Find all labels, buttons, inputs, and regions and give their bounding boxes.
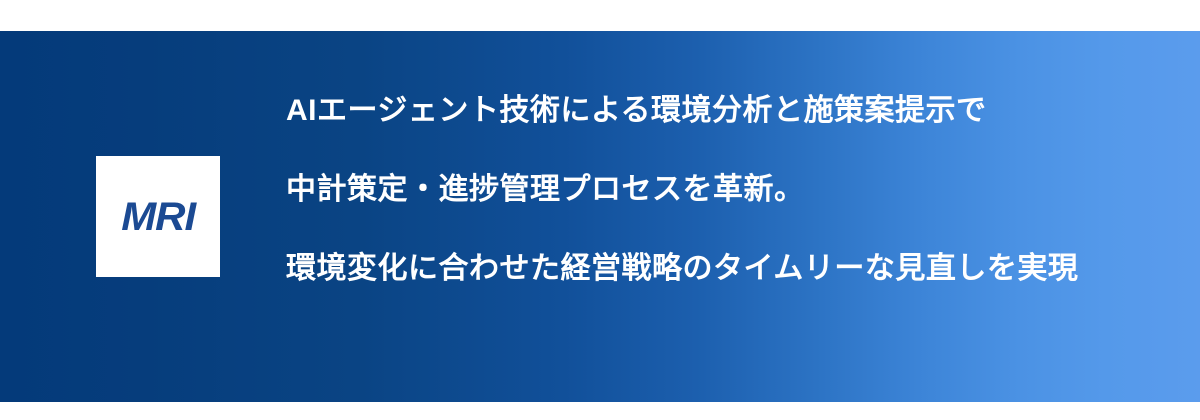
mri-logo-tile: MRI [96, 156, 220, 277]
headline-line-2: 中計策定・進捗管理プロセスを革新。 [286, 175, 1166, 205]
headline-line-3: 環境変化に合わせた経営戦略のタイムリーな見直しを実現 [286, 254, 1166, 284]
promo-banner: MRI AIエージェント技術による環境分析と施策案提示で 中計策定・進捗管理プロ… [0, 0, 1200, 420]
headline-block: AIエージェント技術による環境分析と施策案提示で 中計策定・進捗管理プロセスを革… [286, 96, 1166, 284]
mri-logo-wordmark: MRI [121, 197, 195, 237]
top-white-band [0, 0, 1200, 31]
bottom-white-band [0, 402, 1200, 420]
headline-line-1: AIエージェント技術による環境分析と施策案提示で [286, 96, 1166, 126]
